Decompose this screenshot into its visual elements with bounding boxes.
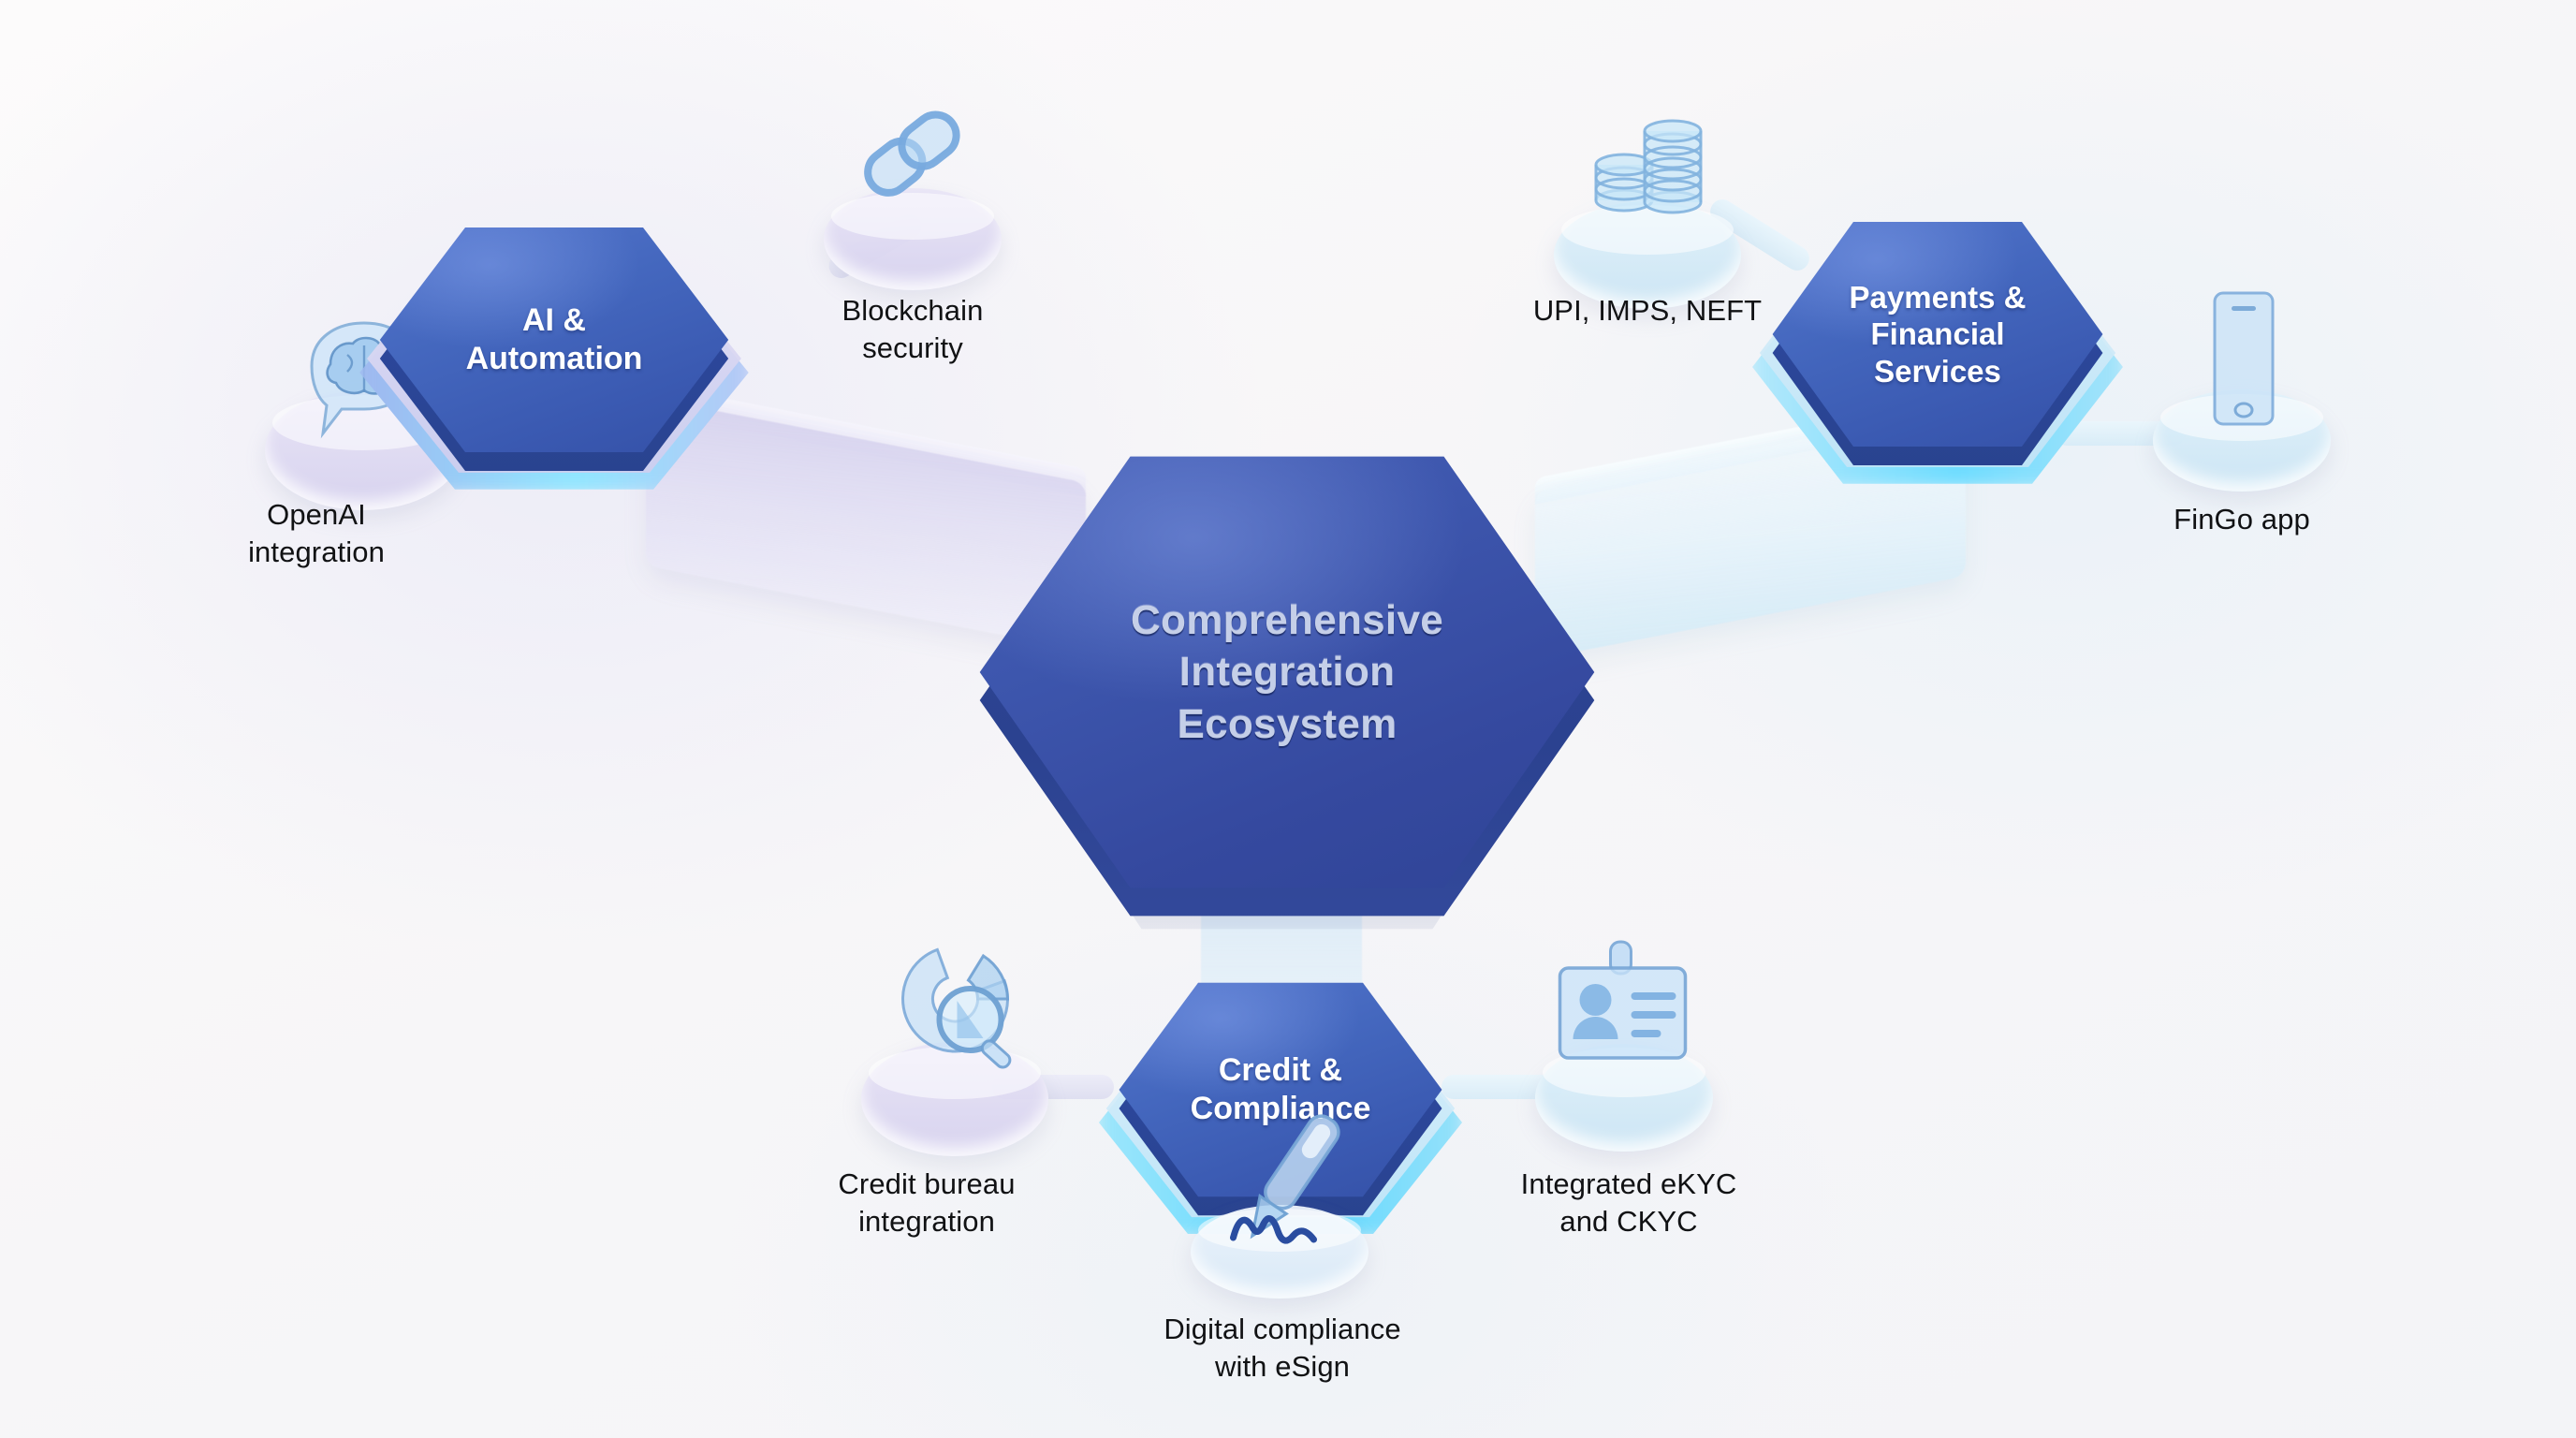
upi-icon-puck: [1554, 140, 1741, 309]
esign-icon-puck: [1191, 1172, 1368, 1299]
blockchain-icon-puck: [824, 131, 1002, 290]
ecosystem-diagram: OpenAI integration Blockchain security A…: [0, 0, 2576, 1438]
node-ai-automation[interactable]: AI &Automation: [376, 223, 732, 457]
chain-link-icon: [838, 84, 988, 229]
ekyc-icon-puck: [1535, 983, 1713, 1152]
id-badge-icon: [1547, 938, 1702, 1083]
node-payments-financial-services[interactable]: Payments &FinancialServices: [1769, 217, 2106, 451]
node-payments-label: Payments &FinancialServices: [1769, 217, 2106, 451]
openai-caption: OpenAI integration: [181, 496, 452, 570]
donut-chart-magnifier-icon: [873, 933, 1037, 1093]
node-ai-automation-label: AI &Automation: [376, 223, 732, 457]
smartphone-icon: [2190, 286, 2293, 445]
upi-caption: UPI, IMPS, NEFT: [1488, 292, 1807, 330]
coin-stacks-icon: [1568, 79, 1727, 242]
node-center-label: ComprehensiveIntegrationEcosystem: [973, 448, 1601, 897]
pen-signature-icon: [1213, 1099, 1368, 1277]
esign-caption: Digital compliance with eSign: [1100, 1311, 1465, 1385]
credit-bureau-icon-puck: [861, 978, 1048, 1156]
credit-bureau-caption: Credit bureau integration: [777, 1166, 1076, 1240]
fingo-caption: FinGo app: [2111, 501, 2373, 538]
ekyc-caption: Integrated eKYC and CKYC: [1479, 1166, 1778, 1240]
blockchain-caption: Blockchain security: [777, 292, 1048, 366]
node-center-ecosystem[interactable]: ComprehensiveIntegrationEcosystem: [973, 448, 1601, 897]
fingo-icon-puck: [2153, 332, 2331, 492]
